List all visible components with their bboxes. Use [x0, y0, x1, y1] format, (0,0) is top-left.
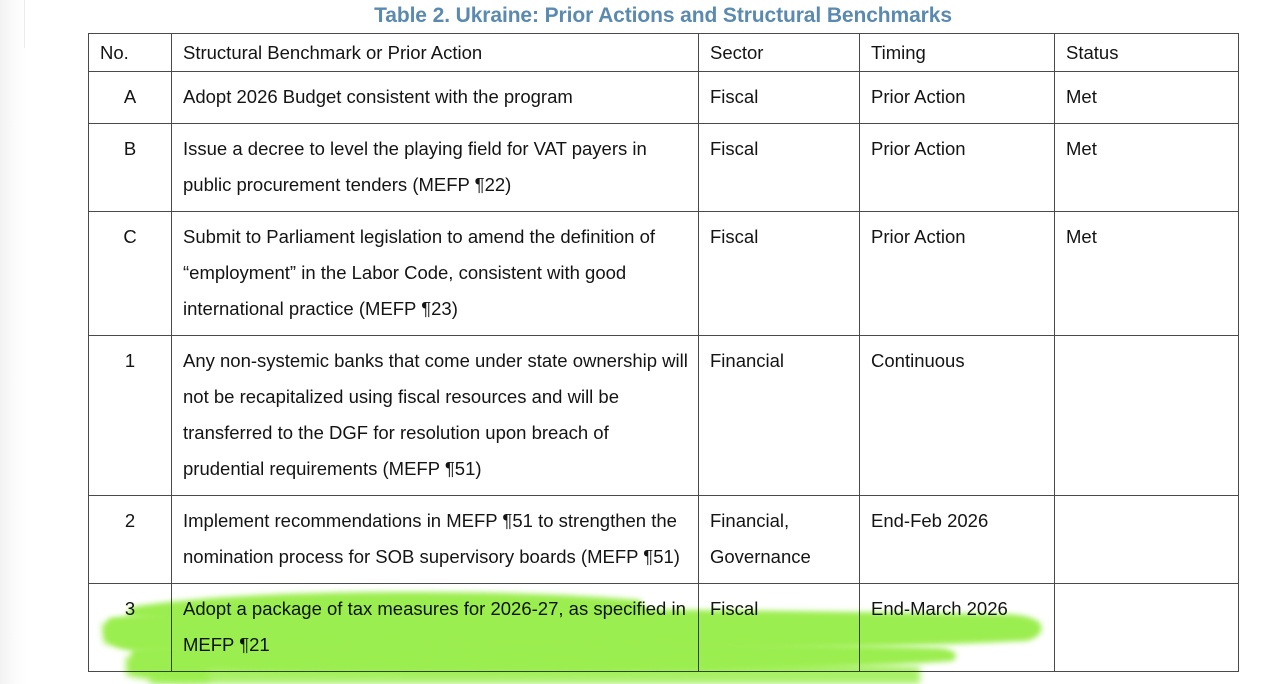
row-status-cell: Met [1055, 212, 1239, 336]
column-header-timing: Timing [860, 34, 1055, 72]
row-benchmark-cell: Submit to Parliament legislation to amen… [172, 212, 699, 336]
row-benchmark-cell: Implement recommendations in MEFP ¶51 to… [172, 496, 699, 584]
row-status-cell [1055, 584, 1239, 672]
table-row: B Issue a decree to level the playing fi… [89, 124, 1239, 212]
row-number-cell: 1 [89, 336, 172, 496]
row-number-cell: 3 [89, 584, 172, 672]
column-header-no: No. [89, 34, 172, 72]
row-sector-cell: Financial, Governance [699, 496, 860, 584]
row-sector-cell: Fiscal [699, 212, 860, 336]
row-benchmark-cell: Adopt a package of tax measures for 2026… [172, 584, 699, 672]
page-edge-line [24, 0, 25, 48]
row-benchmark-cell: Adopt 2026 Budget consistent with the pr… [172, 72, 699, 124]
row-number-cell: A [89, 72, 172, 124]
structural-benchmarks-table: No. Structural Benchmark or Prior Action… [88, 33, 1239, 672]
row-number-cell: 2 [89, 496, 172, 584]
row-timing-cell: End-March 2026 [860, 584, 1055, 672]
row-sector-cell: Fiscal [699, 124, 860, 212]
row-sector-cell: Fiscal [699, 584, 860, 672]
table-header-row: No. Structural Benchmark or Prior Action… [89, 34, 1239, 72]
row-timing-cell: Continuous [860, 336, 1055, 496]
table-title: Table 2. Ukraine: Prior Actions and Stru… [88, 2, 1238, 30]
row-timing-cell: Prior Action [860, 124, 1055, 212]
column-header-benchmark: Structural Benchmark or Prior Action [172, 34, 699, 72]
row-sector-cell: Fiscal [699, 72, 860, 124]
column-header-status: Status [1055, 34, 1239, 72]
row-timing-cell: Prior Action [860, 212, 1055, 336]
row-timing-cell: Prior Action [860, 72, 1055, 124]
row-number-cell: C [89, 212, 172, 336]
page-edge-shadow [0, 0, 26, 684]
row-status-cell: Met [1055, 124, 1239, 212]
row-sector-cell: Financial [699, 336, 860, 496]
document-page: Table 2. Ukraine: Prior Actions and Stru… [0, 0, 1280, 684]
row-status-cell [1055, 336, 1239, 496]
row-benchmark-cell: Any non-systemic banks that come under s… [172, 336, 699, 496]
row-status-cell: Met [1055, 72, 1239, 124]
row-status-cell [1055, 496, 1239, 584]
row-benchmark-cell: Issue a decree to level the playing fiel… [172, 124, 699, 212]
table-row-highlighted: 3 Adopt a package of tax measures for 20… [89, 584, 1239, 672]
row-timing-cell: End-Feb 2026 [860, 496, 1055, 584]
table-row: 2 Implement recommendations in MEFP ¶51 … [89, 496, 1239, 584]
table-row: C Submit to Parliament legislation to am… [89, 212, 1239, 336]
table-row: 1 Any non-systemic banks that come under… [89, 336, 1239, 496]
row-number-cell: B [89, 124, 172, 212]
table-row: A Adopt 2026 Budget consistent with the … [89, 72, 1239, 124]
column-header-sector: Sector [699, 34, 860, 72]
